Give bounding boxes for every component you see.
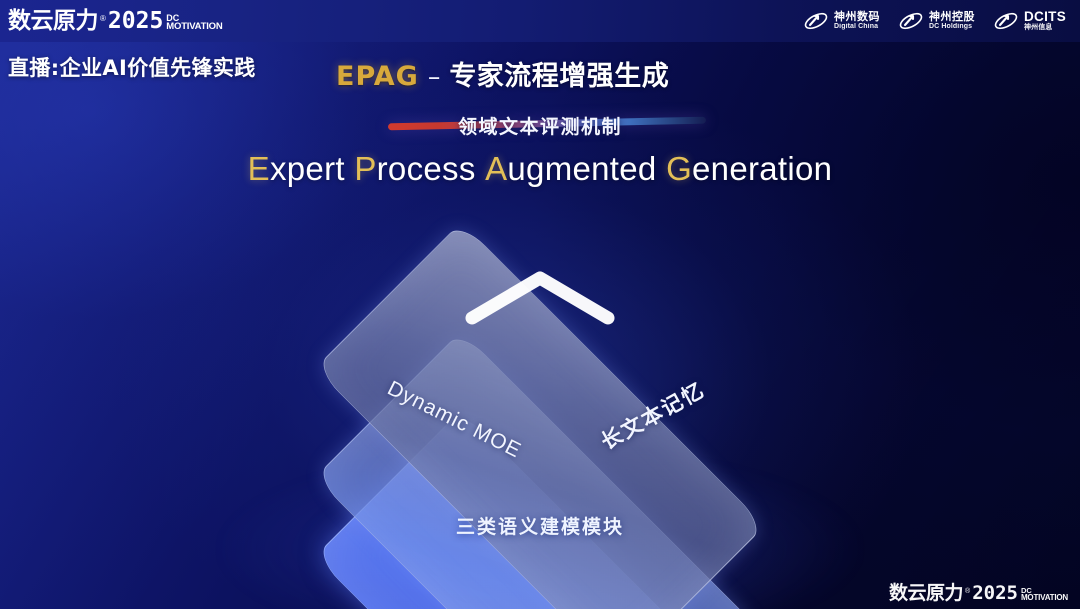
subtitle-rest-process: rocess [377, 150, 476, 187]
title-divider-bar [388, 117, 706, 131]
footer-brand-registered-mark: ® [965, 588, 970, 595]
logo-label-en: DC Holdings [929, 23, 975, 30]
title-acronym: EPAG [336, 61, 419, 92]
logo-dc-holdings-text: 神州控股 DC Holdings [929, 12, 975, 31]
logo-label-cn: 神州控股 [929, 12, 975, 24]
subtitle-cap-e: E [248, 150, 270, 187]
partner-logo-group: 神州数码 Digital China 神州控股 DC Holdings [803, 10, 1070, 32]
footer-brand-name-cn: 数云原力 [889, 584, 963, 603]
brand-dc-motivation: DC MOTIVATION [166, 14, 222, 32]
subtitle-space-1 [345, 150, 354, 187]
logo-dcits: DCITS 神州信息 [993, 10, 1066, 32]
dc-swirl-logo-icon [803, 10, 829, 32]
header-brand-lockup: 数云原力 ® 2025 DC MOTIVATION [8, 10, 223, 33]
subtitle-cap-p: P [354, 150, 376, 187]
dc-swirl-logo-icon [898, 10, 924, 32]
logo-dc-holdings: 神州控股 DC Holdings [898, 10, 975, 32]
logo-dcits-text: DCITS 神州信息 [1024, 10, 1066, 32]
brand-registered-mark: ® [100, 14, 106, 23]
subtitle-rest-expert: xpert [270, 150, 345, 187]
subtitle-expansion: Expert Process Augmented Generation [0, 150, 1080, 188]
brand-name-cn: 数云原力 [8, 10, 98, 33]
subtitle-rest-augmented: ugmented [507, 150, 656, 187]
logo-digital-china: 神州数码 Digital China [803, 10, 880, 32]
subtitle-space-3 [657, 150, 666, 187]
title-dash: – [428, 62, 441, 91]
brand-motivation-label: MOTIVATION [166, 22, 222, 31]
dc-swirl-logo-icon [993, 10, 1019, 32]
footer-brand-motivation-label: MOTIVATION [1021, 594, 1068, 602]
title-chinese: 专家流程增强生成 [449, 54, 669, 93]
subtitle-rest-generation: eneration [692, 150, 832, 187]
footer-brand-dc-motivation: DC MOTIVATION [1021, 587, 1068, 602]
subtitle-cap-a: A [485, 150, 507, 187]
subtitle-cap-g: G [666, 150, 692, 187]
logo-label-en: Digital China [834, 23, 880, 30]
logo-label-cn: 神州数码 [834, 12, 880, 24]
footer-brand-year: 2025 [972, 584, 1018, 603]
live-session-label: 直播:企业AI价值先锋实践 [8, 52, 256, 82]
brand-year: 2025 [108, 10, 163, 33]
layered-architecture-diagram [0, 224, 1080, 574]
page-title: EPAG – 专家流程增强生成 [336, 54, 669, 93]
presentation-slide: 数云原力 ® 2025 DC MOTIVATION 神州数码 Digital C… [0, 0, 1080, 609]
logo-label-cn: 神州信息 [1024, 24, 1066, 31]
logo-label-en: DCITS [1024, 10, 1066, 24]
logo-digital-china-text: 神州数码 Digital China [834, 12, 880, 31]
slide-header-bar: 数云原力 ® 2025 DC MOTIVATION 神州数码 Digital C… [0, 0, 1080, 42]
subtitle-space-2 [476, 150, 485, 187]
footer-brand-watermark: 数云原力 ® 2025 DC MOTIVATION [889, 584, 1068, 603]
